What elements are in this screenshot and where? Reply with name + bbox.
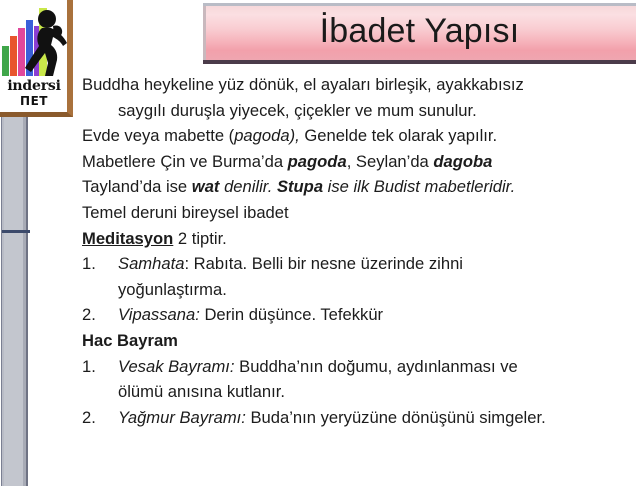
paragraph-line: saygılı duruşla yiyecek, çiçekler ve mum… bbox=[82, 98, 634, 124]
list-item: 1. Samhata: Rabıta. Belli bir nesne üzer… bbox=[82, 251, 634, 302]
text-segment-italic: denilir. bbox=[219, 177, 277, 196]
text-segment: Buddha’nın doğumu, aydınlanması ve bbox=[235, 357, 518, 376]
text-segment: Mabetlere Çin ve Burma’da bbox=[82, 152, 288, 171]
paragraph-line: Evde veya mabette (pagoda), Genelde tek … bbox=[82, 123, 634, 149]
list-item-text: Vipassana: Derin düşünce. Tefekkür bbox=[118, 302, 634, 328]
text-segment: Evde veya mabette ( bbox=[82, 126, 234, 145]
list-item-text: Yağmur Bayramı: Buda’nın yeryüzüne dönüş… bbox=[118, 405, 634, 431]
list-item: 2. Vipassana: Derin düşünce. Tefekkür bbox=[82, 302, 634, 328]
list-item-number: 2. bbox=[82, 302, 108, 328]
list-item-number: 1. bbox=[82, 251, 108, 277]
list-item-continuation: ölümü anısına kutlanır. bbox=[118, 379, 634, 405]
text-segment: : Rabıta. Belli bir nesne üzerinde zihni bbox=[184, 254, 463, 273]
logo-submark: ПЕТ bbox=[0, 95, 68, 107]
page-title: İbadet Yapısı bbox=[203, 6, 636, 60]
text-segment-italic: V bbox=[118, 305, 129, 324]
text-segment-bold-italic: pagoda bbox=[288, 152, 347, 171]
text-segment: Genelde tek olarak yapılır. bbox=[300, 126, 497, 145]
heading-meditasyon: Meditasyon 2 tiptir. bbox=[82, 226, 634, 252]
slide-canvas: indersi ПЕТ İbadet Yapısı Buddha heykeli… bbox=[0, 0, 636, 486]
text-segment-italic: S bbox=[118, 254, 129, 273]
list-item-continuation: yoğunlaştırma. bbox=[118, 277, 634, 303]
heading-meditasyon-rest: 2 tiptir. bbox=[173, 229, 227, 248]
left-scroll-bar[interactable] bbox=[1, 115, 29, 486]
text-segment-bold-italic: Stupa bbox=[277, 177, 323, 196]
text-segment-italic: ipassana: bbox=[129, 305, 200, 324]
text-segment: Derin düşünce. Tefekkür bbox=[200, 305, 383, 324]
paragraph-line: Buddha heykeline yüz dönük, el ayaları b… bbox=[82, 72, 634, 98]
list-item: 1. Vesak Bayramı: Buddha’nın doğumu, ayd… bbox=[82, 354, 634, 405]
text-segment: Tayland’da ise bbox=[82, 177, 192, 196]
paragraph-line: Tayland’da ise wat denilir. Stupa ise il… bbox=[82, 174, 634, 200]
text-segment-bold-italic: dagoba bbox=[433, 152, 492, 171]
list-item-text: Samhata: Rabıta. Belli bir nesne üzerind… bbox=[118, 251, 634, 277]
list-item-number: 2. bbox=[82, 405, 108, 431]
logo-wordmark: indersi bbox=[0, 79, 68, 93]
left-scroll-bar-cap bbox=[2, 230, 30, 233]
title-banner: İbadet Yapısı bbox=[203, 3, 636, 64]
text-segment-italic: Vesak Bayramı: bbox=[118, 357, 235, 376]
logo-graphic-icon bbox=[1, 6, 67, 78]
heading-hac-bayram: Hac Bayram bbox=[82, 328, 634, 354]
paragraph-line: Temel deruni bireysel ibadet bbox=[82, 200, 634, 226]
logo-box: indersi ПЕТ bbox=[0, 0, 73, 117]
heading-hac-bayram-label: Hac Bayram bbox=[82, 331, 178, 350]
text-segment-italic: pagoda), bbox=[234, 126, 300, 145]
list-item: 2. Yağmur Bayramı: Buda’nın yeryüzüne dö… bbox=[82, 405, 634, 431]
list-item-number: 1. bbox=[82, 354, 108, 380]
text-segment: Buda’nın yeryüzüne dönüşünü simgeler. bbox=[246, 408, 546, 427]
heading-meditasyon-label: Meditasyon bbox=[82, 229, 173, 248]
paragraph-line: Mabetlere Çin ve Burma’da pagoda, Seylan… bbox=[82, 149, 634, 175]
list-item-text: Vesak Bayramı: Buddha’nın doğumu, aydınl… bbox=[118, 354, 634, 380]
content-body: Buddha heykeline yüz dönük, el ayaları b… bbox=[82, 72, 634, 430]
text-segment-italic: amhata bbox=[129, 254, 184, 273]
text-segment: , Seylan’da bbox=[347, 152, 434, 171]
text-segment-italic: Yağmur Bayramı: bbox=[118, 408, 246, 427]
text-segment-bold-italic: wat bbox=[192, 177, 220, 196]
text-segment-italic: ise ilk Budist mabetleridir. bbox=[323, 177, 515, 196]
